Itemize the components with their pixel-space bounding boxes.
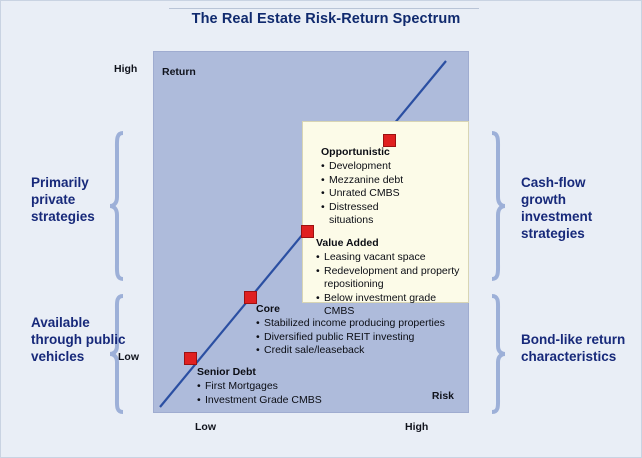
page-title: The Real Estate Risk-Return Spectrum — [161, 11, 491, 27]
annotation-cashflow-growth: Cash-flow growth investment strategies — [521, 174, 633, 242]
data-point-senior-debt[interactable] — [184, 352, 197, 365]
annotation-primarily-private: Primarily private strategies — [31, 174, 131, 225]
segment-title: Opportunistic — [321, 146, 461, 159]
list-item: Investment Grade CMBS — [197, 394, 417, 408]
list-item: Diversified public REIT investing — [256, 331, 476, 345]
brace-right-top-icon — [488, 131, 508, 281]
annotation-available-public: Available through public vehicles — [31, 314, 131, 365]
list-item: Leasing vacant space — [316, 251, 468, 265]
list-item: Mezzanine debt — [321, 174, 461, 188]
segment-senior-debt: Senior Debt First Mortgages Investment G… — [197, 366, 417, 407]
segment-opportunistic: Opportunistic Development Mezzanine debt… — [321, 146, 461, 228]
y-tick-high: High — [114, 63, 137, 75]
x-axis-label: Risk — [432, 390, 454, 402]
segment-title: Value Added — [316, 237, 468, 250]
segment-bullet-list: Development Mezzanine debt Unrated CMBS … — [321, 160, 461, 228]
x-tick-low: Low — [195, 421, 216, 433]
list-item: Stabilized income producing properties — [256, 317, 476, 331]
list-item: Distressed situations — [321, 201, 461, 228]
title-divider — [169, 8, 479, 9]
y-axis-label: Return — [162, 66, 196, 78]
data-point-value-added[interactable] — [301, 225, 314, 238]
segment-bullet-list: First Mortgages Investment Grade CMBS — [197, 380, 417, 407]
x-tick-high: High — [405, 421, 428, 433]
annotation-bondlike-return: Bond-like return characteristics — [521, 331, 633, 365]
brace-right-bottom-icon — [488, 294, 508, 414]
segment-core: Core Stabilized income producing propert… — [256, 303, 476, 358]
list-item: Credit sale/leaseback — [256, 344, 476, 358]
risk-return-spectrum-figure: The Real Estate Risk-Return Spectrum Ret… — [0, 0, 642, 458]
segment-title: Senior Debt — [197, 366, 417, 379]
list-item: Unrated CMBS — [321, 187, 461, 201]
segment-bullet-list: Stabilized income producing properties D… — [256, 317, 476, 358]
list-item: First Mortgages — [197, 380, 417, 394]
list-item: Redevelopment and property repositioning — [316, 265, 468, 292]
list-item: Development — [321, 160, 461, 174]
segment-title: Core — [256, 303, 476, 316]
